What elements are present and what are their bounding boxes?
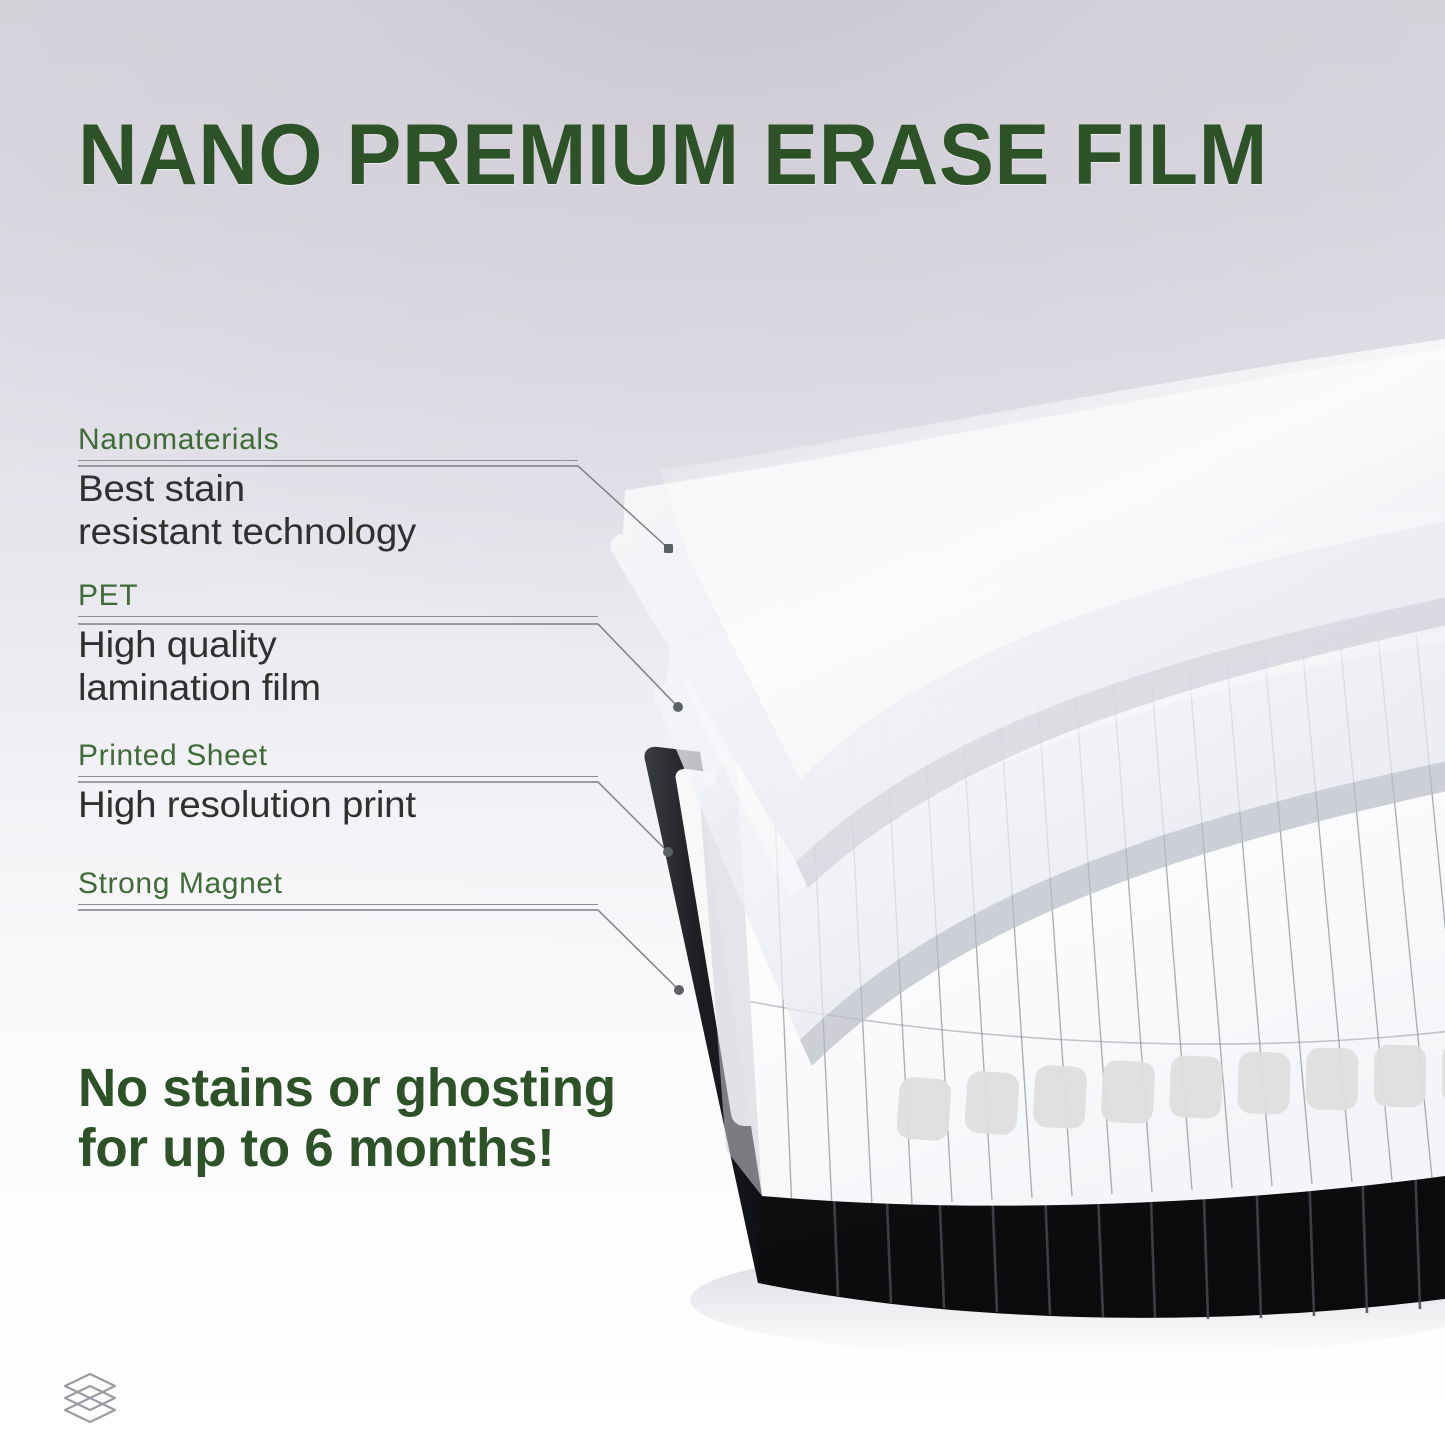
callout-pet: PET High quality lamination film	[78, 578, 598, 709]
callout-label: Strong Magnet	[78, 866, 598, 901]
callout-description: Best stain resistant technology	[78, 468, 598, 553]
leader-dot-strong-magnet	[674, 985, 684, 995]
infographic-canvas: NANO PREMIUM ERASE FILM Nanomaterials Be…	[0, 0, 1445, 1445]
callout-description: High resolution print	[78, 784, 619, 827]
callout-rule	[78, 776, 598, 777]
callout-label: PET	[78, 578, 598, 613]
callout-label: Nanomaterials	[78, 422, 578, 457]
callout-rule	[78, 904, 598, 905]
callout-description: High quality lamination film	[78, 624, 619, 709]
leader-dot-nanomaterials	[664, 544, 673, 553]
page-title: NANO PREMIUM ERASE FILM	[78, 112, 1326, 198]
callout-label: Printed Sheet	[78, 738, 598, 773]
tagline: No stains or ghosting for up to 6 months…	[78, 1058, 686, 1179]
leader-line-strong-magnet	[78, 910, 679, 990]
leader-dot-pet	[673, 702, 683, 712]
callout-rule	[78, 616, 598, 617]
callout-nanomaterials: Nanomaterials Best stain resistant techn…	[78, 422, 578, 553]
product-layer-illustration	[0, 0, 1445, 1445]
callout-printed-sheet: Printed Sheet High resolution print	[78, 738, 598, 827]
leader-dot-printed-sheet	[663, 847, 673, 857]
layers-icon	[58, 1368, 122, 1424]
callout-strong-magnet: Strong Magnet	[78, 866, 598, 905]
callout-rule	[78, 460, 578, 461]
